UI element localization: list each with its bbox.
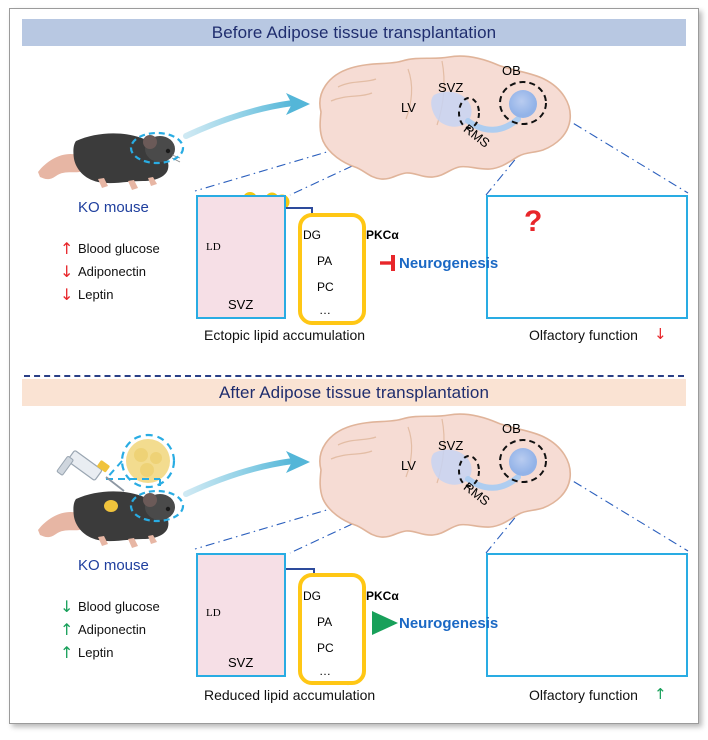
ld-label-before: LD <box>206 241 221 253</box>
marker-row: ↓ Blood glucose <box>60 595 210 618</box>
brain-label-ob-after: OB <box>502 421 521 436</box>
panel-after-header: After Adipose tissue transplantation <box>22 379 686 406</box>
marker-label: Blood glucose <box>78 241 160 256</box>
brain-label-svz-before: SVZ <box>438 80 463 95</box>
ld-label-after: LD <box>206 607 221 619</box>
svz-label-before: SVZ <box>228 297 253 312</box>
marker-arrow-icon: ↑ <box>60 645 78 661</box>
marker-row: ↑ Blood glucose <box>60 237 210 260</box>
panel-before-header: Before Adipose tissue transplantation <box>22 19 686 46</box>
olfactory-caption-arrow-after: ↑ <box>654 687 667 702</box>
figure-frame: Before Adipose tissue transplantation Af… <box>9 8 699 724</box>
olfactory-box-before <box>486 195 688 319</box>
pathway-row-name-pa-after: PA <box>317 615 332 629</box>
neurogenesis-label-before: Neurogenesis <box>399 255 498 272</box>
marker-arrow-icon: ↓ <box>60 599 78 615</box>
marker-row: ↓ Leptin <box>60 283 210 306</box>
marker-label: Adiponectin <box>78 264 146 279</box>
pathway-row-name-etc-before: … <box>319 303 331 317</box>
pathway-row-name-etc-after: … <box>319 664 331 678</box>
ko-mouse-label-after: KO mouse <box>78 557 149 574</box>
svz-label-after: SVZ <box>228 655 253 670</box>
pathway-target-after: PKCα <box>366 589 399 603</box>
pathway-target-before: PKCα <box>366 228 399 242</box>
svz-caption-after: Reduced lipid accumulation <box>204 687 375 703</box>
pathway-row-name-pa-before: PA <box>317 254 332 268</box>
panel-divider <box>24 375 684 377</box>
brain-label-svz-after: SVZ <box>438 438 463 453</box>
olfactory-caption-before: Olfactory function <box>529 327 638 343</box>
marker-label: Leptin <box>78 287 113 302</box>
ko-mouse-label-before: KO mouse <box>78 199 149 216</box>
marker-arrow-icon: ↑ <box>60 241 78 257</box>
olfactory-caption-after: Olfactory function <box>529 687 638 703</box>
marker-arrow-icon: ↓ <box>60 287 78 303</box>
olfactory-box-after <box>486 553 688 677</box>
figure-root: Before Adipose tissue transplantation Af… <box>0 0 708 740</box>
marker-list-before: ↑ Blood glucose ↓ Adiponectin ↓ Leptin <box>60 237 210 306</box>
brain-label-lv-after: LV <box>401 458 416 473</box>
marker-label: Leptin <box>78 645 113 660</box>
marker-list-after: ↓ Blood glucose ↑ Adiponectin ↑ Leptin <box>60 595 210 664</box>
brain-label-ob-before: OB <box>502 63 521 78</box>
marker-row: ↑ Adiponectin <box>60 618 210 641</box>
pathway-row-name-pc-before: PC <box>317 280 334 294</box>
pathway-row-name-dg-before: DG <box>303 228 321 242</box>
neurogenesis-label-after: Neurogenesis <box>399 615 498 632</box>
brain-label-lv-before: LV <box>401 100 416 115</box>
marker-label: Adiponectin <box>78 622 146 637</box>
pathway-row-name-dg-after: DG <box>303 589 321 603</box>
marker-row: ↑ Leptin <box>60 641 210 664</box>
marker-row: ↓ Adiponectin <box>60 260 210 283</box>
marker-arrow-icon: ↑ <box>60 622 78 638</box>
question-mark-icon-before: ? <box>524 205 542 239</box>
olfactory-caption-arrow-before: ↓ <box>654 327 667 342</box>
pathway-row-name-pc-after: PC <box>317 641 334 655</box>
marker-arrow-icon: ↓ <box>60 264 78 280</box>
svz-caption-before: Ectopic lipid accumulation <box>204 327 365 343</box>
marker-label: Blood glucose <box>78 599 160 614</box>
